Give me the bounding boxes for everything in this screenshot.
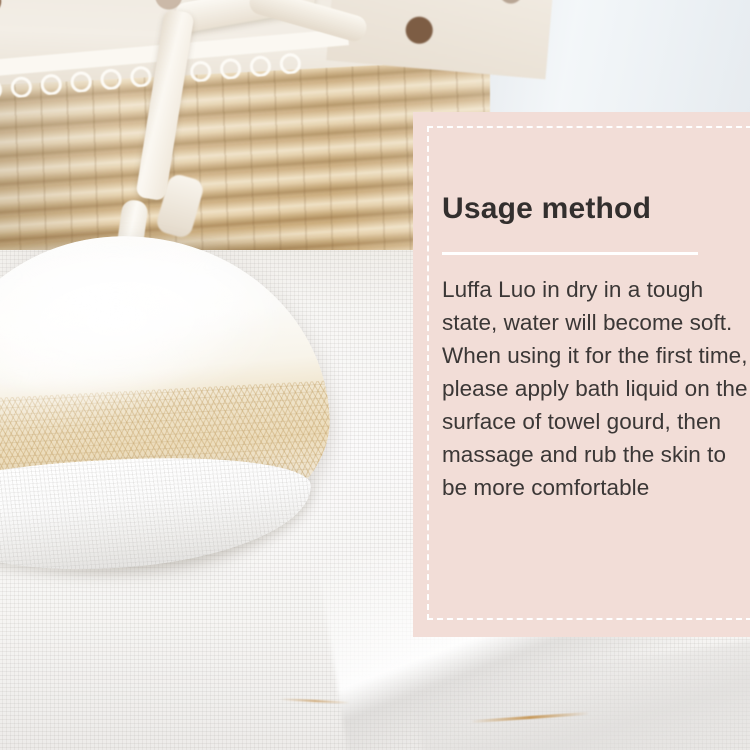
title-underline-rule	[442, 252, 698, 255]
page-title: Usage method	[442, 192, 651, 226]
panel-content: Usage method Luffa Luo in dry in a tough…	[442, 112, 750, 637]
usage-method-panel: Usage method Luffa Luo in dry in a tough…	[413, 112, 750, 637]
product-image-canvas: Usage method Luffa Luo in dry in a tough…	[0, 0, 750, 750]
usage-instructions-text: Luffa Luo in dry in a tough state, water…	[442, 273, 748, 504]
